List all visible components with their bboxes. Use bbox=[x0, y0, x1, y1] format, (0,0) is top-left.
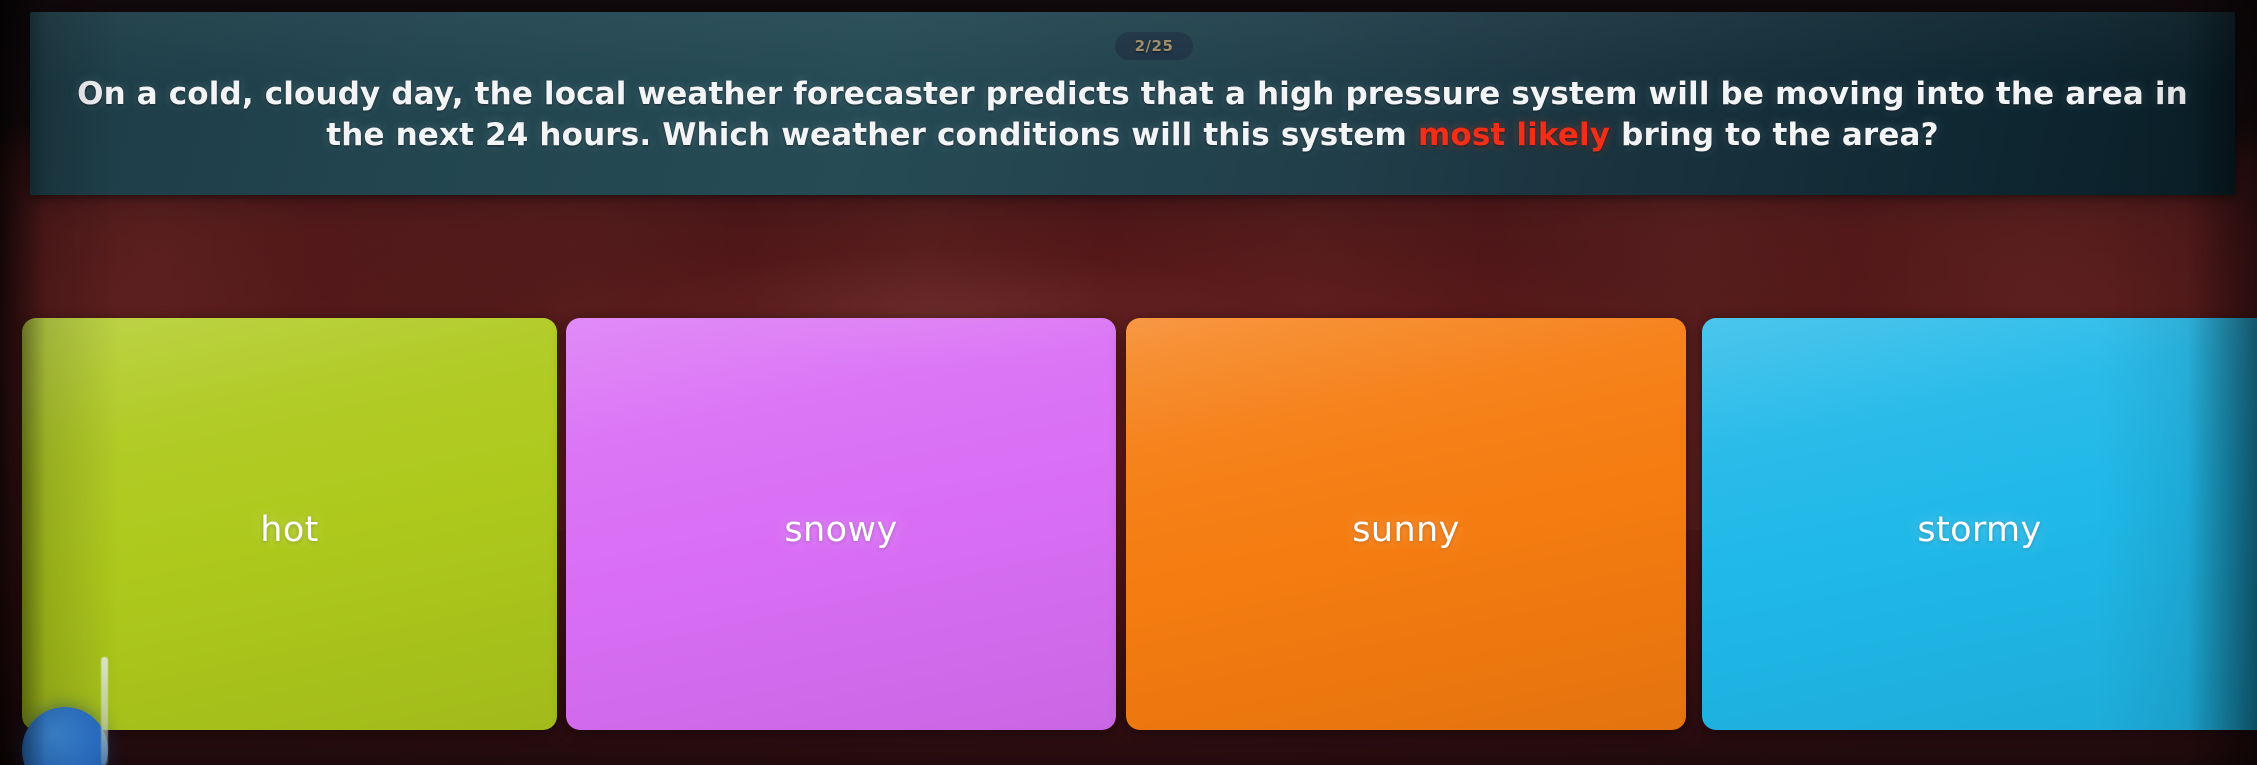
question-panel: 2/25 On a cold, cloudy day, the local we… bbox=[30, 12, 2235, 195]
question-counter-badge: 2/25 bbox=[1115, 32, 1193, 60]
answer-tile-snowy[interactable]: snowy bbox=[566, 318, 1116, 730]
answer-label: snowy bbox=[784, 510, 897, 550]
answer-tile-stormy[interactable]: stormy bbox=[1702, 318, 2257, 730]
pointer-stylus bbox=[101, 657, 108, 765]
answer-label: sunny bbox=[1352, 510, 1460, 550]
answer-label: stormy bbox=[1917, 510, 2041, 550]
question-text: On a cold, cloudy day, the local weather… bbox=[70, 74, 2195, 156]
quiz-screen: 2/25 On a cold, cloudy day, the local we… bbox=[0, 0, 2257, 765]
answer-tile-sunny[interactable]: sunny bbox=[1126, 318, 1686, 730]
answer-label: hot bbox=[260, 510, 319, 550]
answer-options: hot snowy sunny stormy bbox=[0, 318, 2257, 730]
